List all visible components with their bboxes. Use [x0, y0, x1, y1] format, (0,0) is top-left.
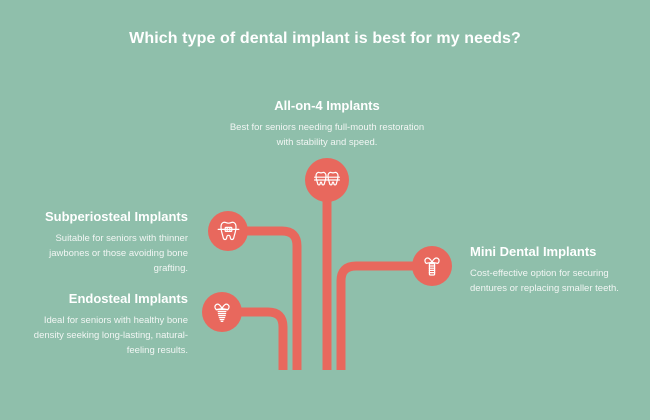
- label-title-subperiosteal: Subperiosteal Implants: [28, 209, 188, 225]
- label-title-mini-dental: Mini Dental Implants: [470, 244, 630, 260]
- dental-bridge-icon: [314, 169, 340, 191]
- label-subperiosteal: Subperiosteal Implants Suitable for seni…: [28, 209, 188, 276]
- label-endosteal: Endosteal Implants Ideal for seniors wit…: [28, 291, 188, 358]
- implant-screw-icon: [212, 300, 232, 324]
- node-icon-endosteal[interactable]: [202, 292, 242, 332]
- node-icon-mini-dental[interactable]: [412, 246, 452, 286]
- label-desc-all-on-4: Best for seniors needing full-mouth rest…: [227, 121, 427, 150]
- label-desc-mini-dental: Cost-effective option for securing dentu…: [470, 267, 630, 296]
- label-title-endosteal: Endosteal Implants: [28, 291, 188, 307]
- infographic-canvas: Which type of dental implant is best for…: [0, 0, 650, 420]
- node-icon-all-on-4[interactable]: [305, 158, 349, 202]
- node-icon-subperiosteal[interactable]: [208, 211, 248, 251]
- label-title-all-on-4: All-on-4 Implants: [227, 98, 427, 114]
- label-desc-endosteal: Ideal for seniors with healthy bone dens…: [28, 314, 188, 358]
- label-mini-dental: Mini Dental Implants Cost-effective opti…: [470, 244, 630, 297]
- mini-implant-screw-icon: [422, 254, 442, 278]
- tooth-with-frame-icon: [217, 219, 240, 243]
- label-desc-subperiosteal: Suitable for seniors with thinner jawbon…: [28, 232, 188, 276]
- label-all-on-4: All-on-4 Implants Best for seniors needi…: [227, 98, 427, 151]
- connector-mini-dental: [341, 266, 432, 370]
